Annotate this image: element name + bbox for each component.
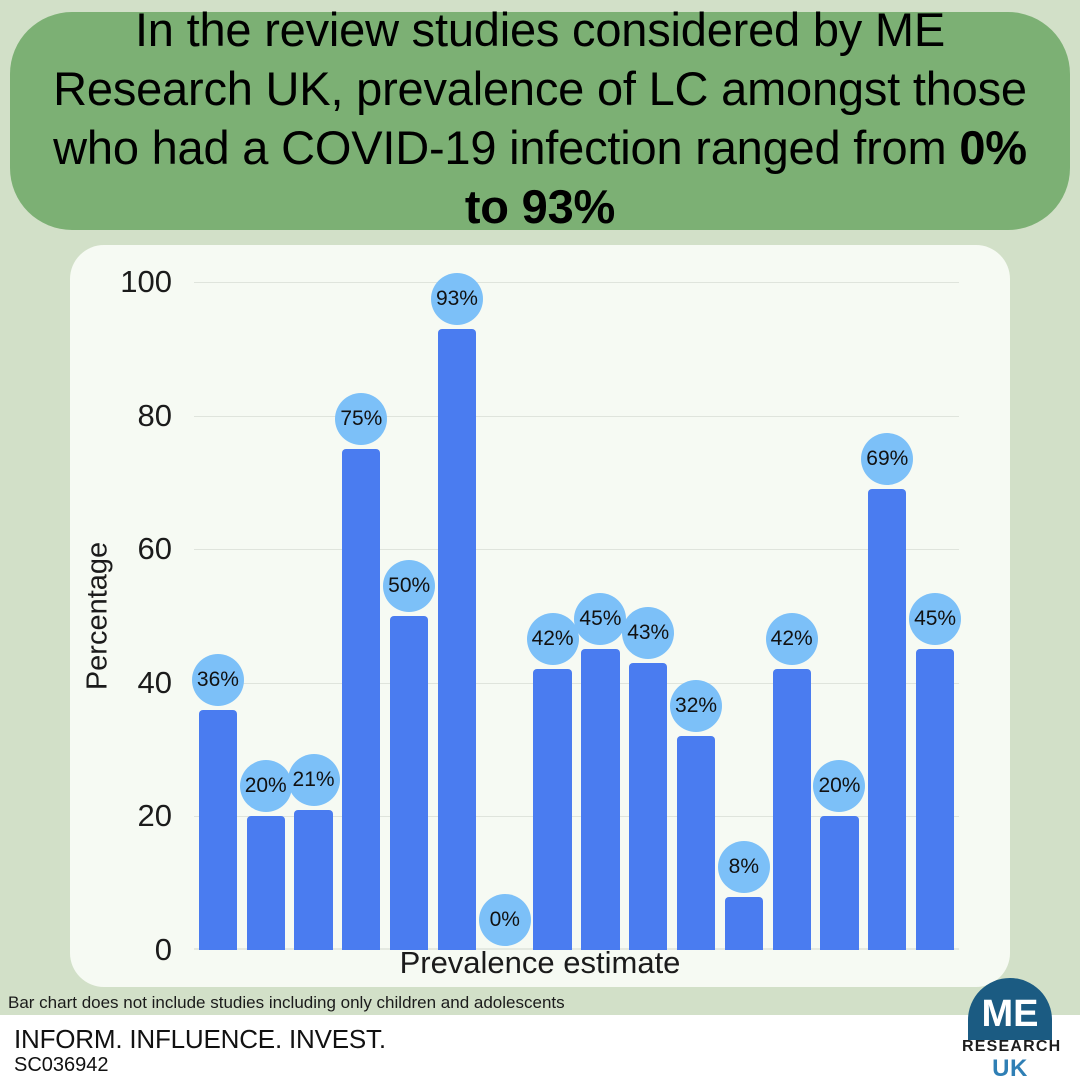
header-banner: In the review studies considered by ME R…	[10, 12, 1070, 230]
y-axis-label: Percentage	[82, 542, 115, 690]
bar-value-label: 42%	[766, 613, 818, 665]
bar-value-label: 50%	[383, 560, 435, 612]
bar-value-label: 93%	[431, 273, 483, 325]
bar-group[interactable]: 20%	[247, 282, 285, 950]
bar[interactable]	[581, 649, 619, 950]
me-research-uk-logo: ME RESEARCH UK	[962, 978, 1058, 1078]
footer-registration-number: SC036942	[14, 1054, 109, 1077]
header-text-normal: In the review studies considered by ME R…	[53, 3, 1027, 174]
logo-me-text: ME	[982, 995, 1039, 1033]
y-tick-label: 40	[138, 665, 172, 701]
bar-series: 36%20%21%75%50%93%0%42%45%43%32%8%42%20%…	[194, 282, 959, 950]
bar-group[interactable]: 45%	[916, 282, 954, 950]
bar[interactable]	[868, 489, 906, 950]
plot-area: 020406080100 36%20%21%75%50%93%0%42%45%4…	[194, 282, 959, 950]
bar-group[interactable]: 36%	[199, 282, 237, 950]
bar[interactable]	[438, 329, 476, 950]
bar-value-label: 42%	[527, 613, 579, 665]
logo-uk-text: UK	[962, 1055, 1058, 1080]
bar-group[interactable]: 20%	[820, 282, 858, 950]
bar[interactable]	[199, 710, 237, 950]
logo-research-text: RESEARCH	[962, 1038, 1058, 1056]
bar[interactable]	[294, 810, 332, 950]
bar-group[interactable]: 32%	[677, 282, 715, 950]
bar-value-label: 45%	[909, 593, 961, 645]
bar[interactable]	[342, 449, 380, 950]
chart-panel: 020406080100 36%20%21%75%50%93%0%42%45%4…	[70, 245, 1010, 987]
bar-value-label: 36%	[192, 654, 244, 706]
bar[interactable]	[247, 816, 285, 950]
page-title: In the review studies considered by ME R…	[34, 0, 1046, 236]
bar-value-label: 32%	[670, 680, 722, 732]
bar-value-label: 20%	[813, 760, 865, 812]
bar[interactable]	[390, 616, 428, 950]
y-tick-label: 80	[138, 398, 172, 434]
bar[interactable]	[629, 663, 667, 950]
bar-value-label: 21%	[288, 754, 340, 806]
bar-value-label: 8%	[718, 841, 770, 893]
bar[interactable]	[820, 816, 858, 950]
bar-group[interactable]: 50%	[390, 282, 428, 950]
logo-arch-shape: ME	[968, 978, 1052, 1040]
footer-tagline: INFORM. INFLUENCE. INVEST.	[14, 1024, 386, 1055]
bar[interactable]	[725, 897, 763, 950]
bar-group[interactable]: 43%	[629, 282, 667, 950]
y-tick-label: 20	[138, 798, 172, 834]
bar-group[interactable]: 75%	[342, 282, 380, 950]
bar-group[interactable]: 0%	[486, 282, 524, 950]
bar-group[interactable]: 42%	[773, 282, 811, 950]
bar-group[interactable]: 21%	[294, 282, 332, 950]
y-tick-label: 100	[120, 264, 172, 300]
bar-value-label: 0%	[479, 894, 531, 946]
bar-value-label: 20%	[240, 760, 292, 812]
bar-group[interactable]: 69%	[868, 282, 906, 950]
bar[interactable]	[773, 669, 811, 950]
x-axis-label: Prevalence estimate	[70, 945, 1010, 981]
y-tick-label: 60	[138, 531, 172, 567]
bar-value-label: 75%	[335, 393, 387, 445]
bar-group[interactable]: 8%	[725, 282, 763, 950]
bar-group[interactable]: 45%	[581, 282, 619, 950]
bar-value-label: 43%	[622, 607, 674, 659]
chart-footnote: Bar chart does not include studies inclu…	[8, 993, 565, 1013]
bar-value-label: 45%	[574, 593, 626, 645]
bar[interactable]	[533, 669, 571, 950]
bar-value-label: 69%	[861, 433, 913, 485]
bar-group[interactable]: 42%	[533, 282, 571, 950]
bar[interactable]	[677, 736, 715, 950]
bar[interactable]	[916, 649, 954, 950]
bar-group[interactable]: 93%	[438, 282, 476, 950]
